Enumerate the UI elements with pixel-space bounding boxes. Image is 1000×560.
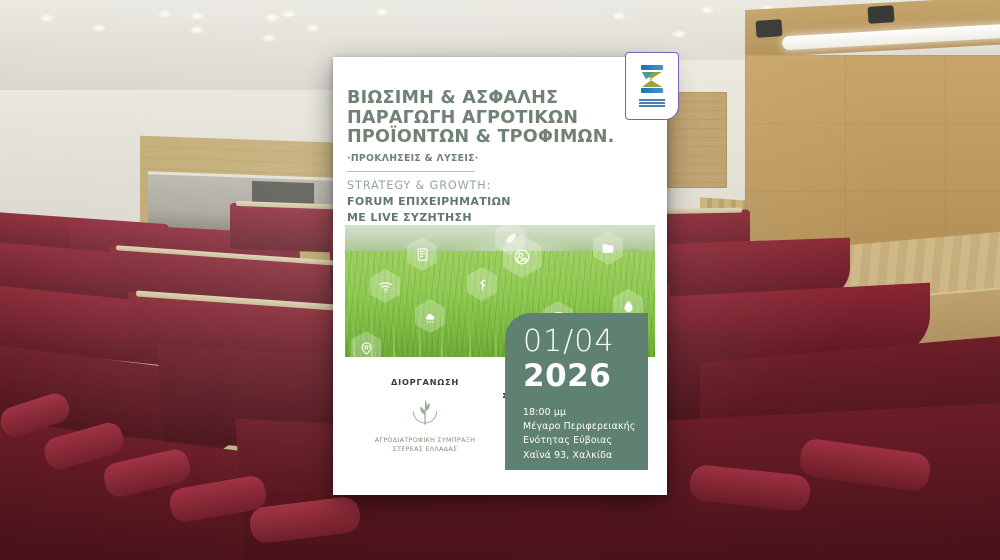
downlight [282, 10, 296, 18]
title-line-1: ΒΙΩΣΙΜΗ & ΑΣΦΑΛΗΣ [347, 89, 615, 109]
event-day: 01/04 [523, 327, 648, 357]
logo-caption-text [639, 99, 665, 108]
sigma-bottom-bar [641, 88, 663, 93]
downlight [375, 8, 389, 16]
poster-content: ΒΙΩΣΙΜΗ & ΑΣΦΑΛΗΣ ΠΑΡΑΓΩΓΗ ΑΓΡΟΤΙΚΩΝ ΠΡΟ… [333, 57, 667, 495]
subtitle-challenges: ·ΠΡΟΚΛΗΣΕΙΣ & ΛΥΣΕΙΣ· [347, 153, 615, 164]
downlight [262, 34, 276, 42]
downlight [92, 24, 106, 32]
downlight [40, 14, 54, 22]
title-line-2: ΠΑΡΑΓΩΓΗ ΑΓΡΟΤΙΚΩΝ [347, 109, 615, 129]
downlight [700, 6, 714, 14]
strategy-block: STRATEGY & GROWTH: FORUM ΕΠΙΧΕΙΡΗΜΑΤΙΩΝ … [347, 178, 577, 225]
title-line-3: ΠΡΟΪΟΝΤΩΝ & ΤΡΟΦΙΜΩΝ. [347, 128, 615, 148]
agrodiatrofiki-logo-icon [405, 393, 445, 433]
sigma-icon [637, 64, 667, 98]
espa-logo-badge [625, 52, 679, 120]
strategy-growth-label: STRATEGY & GROWTH: [347, 178, 577, 194]
sigma-top-bar [641, 65, 663, 70]
organizer-name-line-2: ΣΤΕΡΕΑΣ ΕΛΛΑΔΑΣ [355, 445, 495, 454]
forum-label-2: ΜΕ LIVE ΣΥΖΗΤΗΣΗ [347, 210, 577, 226]
venue-line-2: Ενότητας Εύβοιας [523, 434, 648, 448]
grass-blade [495, 313, 497, 357]
organizer-name-line-1: ΑΓΡΟΔΙΑΤΡΟΦΙΚΗ ΣΥΜΠΡΑΞΗ [355, 436, 495, 445]
downlight [306, 24, 320, 32]
grass-blade [469, 291, 471, 357]
grass-blade [393, 317, 395, 357]
event-poster: ΒΙΩΣΙΜΗ & ΑΣΦΑΛΗΣ ΠΑΡΑΓΩΓΗ ΑΓΡΟΤΙΚΩΝ ΠΡΟ… [333, 57, 667, 495]
divider [347, 171, 475, 172]
event-time: 18:00 μμ [523, 406, 648, 420]
event-year: 2026 [523, 359, 648, 394]
event-date-block: 01/04 2026 18:00 μμ Μέγαρο Περιφερειακής… [505, 313, 648, 470]
downlight [190, 26, 204, 34]
venue-line-1: Μέγαρο Περιφερειακής [523, 420, 648, 434]
organizer-primary: ΔΙΟΡΓΑΝΩΣΗ ΑΓΡΟΔΙΑΤΡΟΦΙΚΗ ΣΥΜΠΡΑΞΗ ΣΤΕΡΕ… [355, 377, 495, 453]
downlight [612, 12, 626, 20]
page-title: ΒΙΩΣΙΜΗ & ΑΣΦΑΛΗΣ ΠΑΡΑΓΩΓΗ ΑΓΡΟΤΙΚΩΝ ΠΡΟ… [347, 89, 615, 148]
sigma-glyph [640, 71, 664, 88]
hanging-speaker [755, 19, 782, 38]
downlight [265, 14, 279, 22]
downlight [672, 30, 686, 38]
forum-label-1: FORUM ΕΠΙΧΕΙΡΗΜΑΤΙΩΝ [347, 194, 577, 210]
venue-line-3: Χαϊνά 93, Χαλκίδα [523, 449, 648, 463]
organizer-label: ΔΙΟΡΓΑΝΩΣΗ [355, 377, 495, 387]
downlight [190, 12, 204, 20]
downlight [158, 10, 172, 18]
hanging-speaker [867, 5, 894, 24]
event-details: 18:00 μμ Μέγαρο Περιφερειακής Ενότητας Ε… [523, 406, 648, 463]
